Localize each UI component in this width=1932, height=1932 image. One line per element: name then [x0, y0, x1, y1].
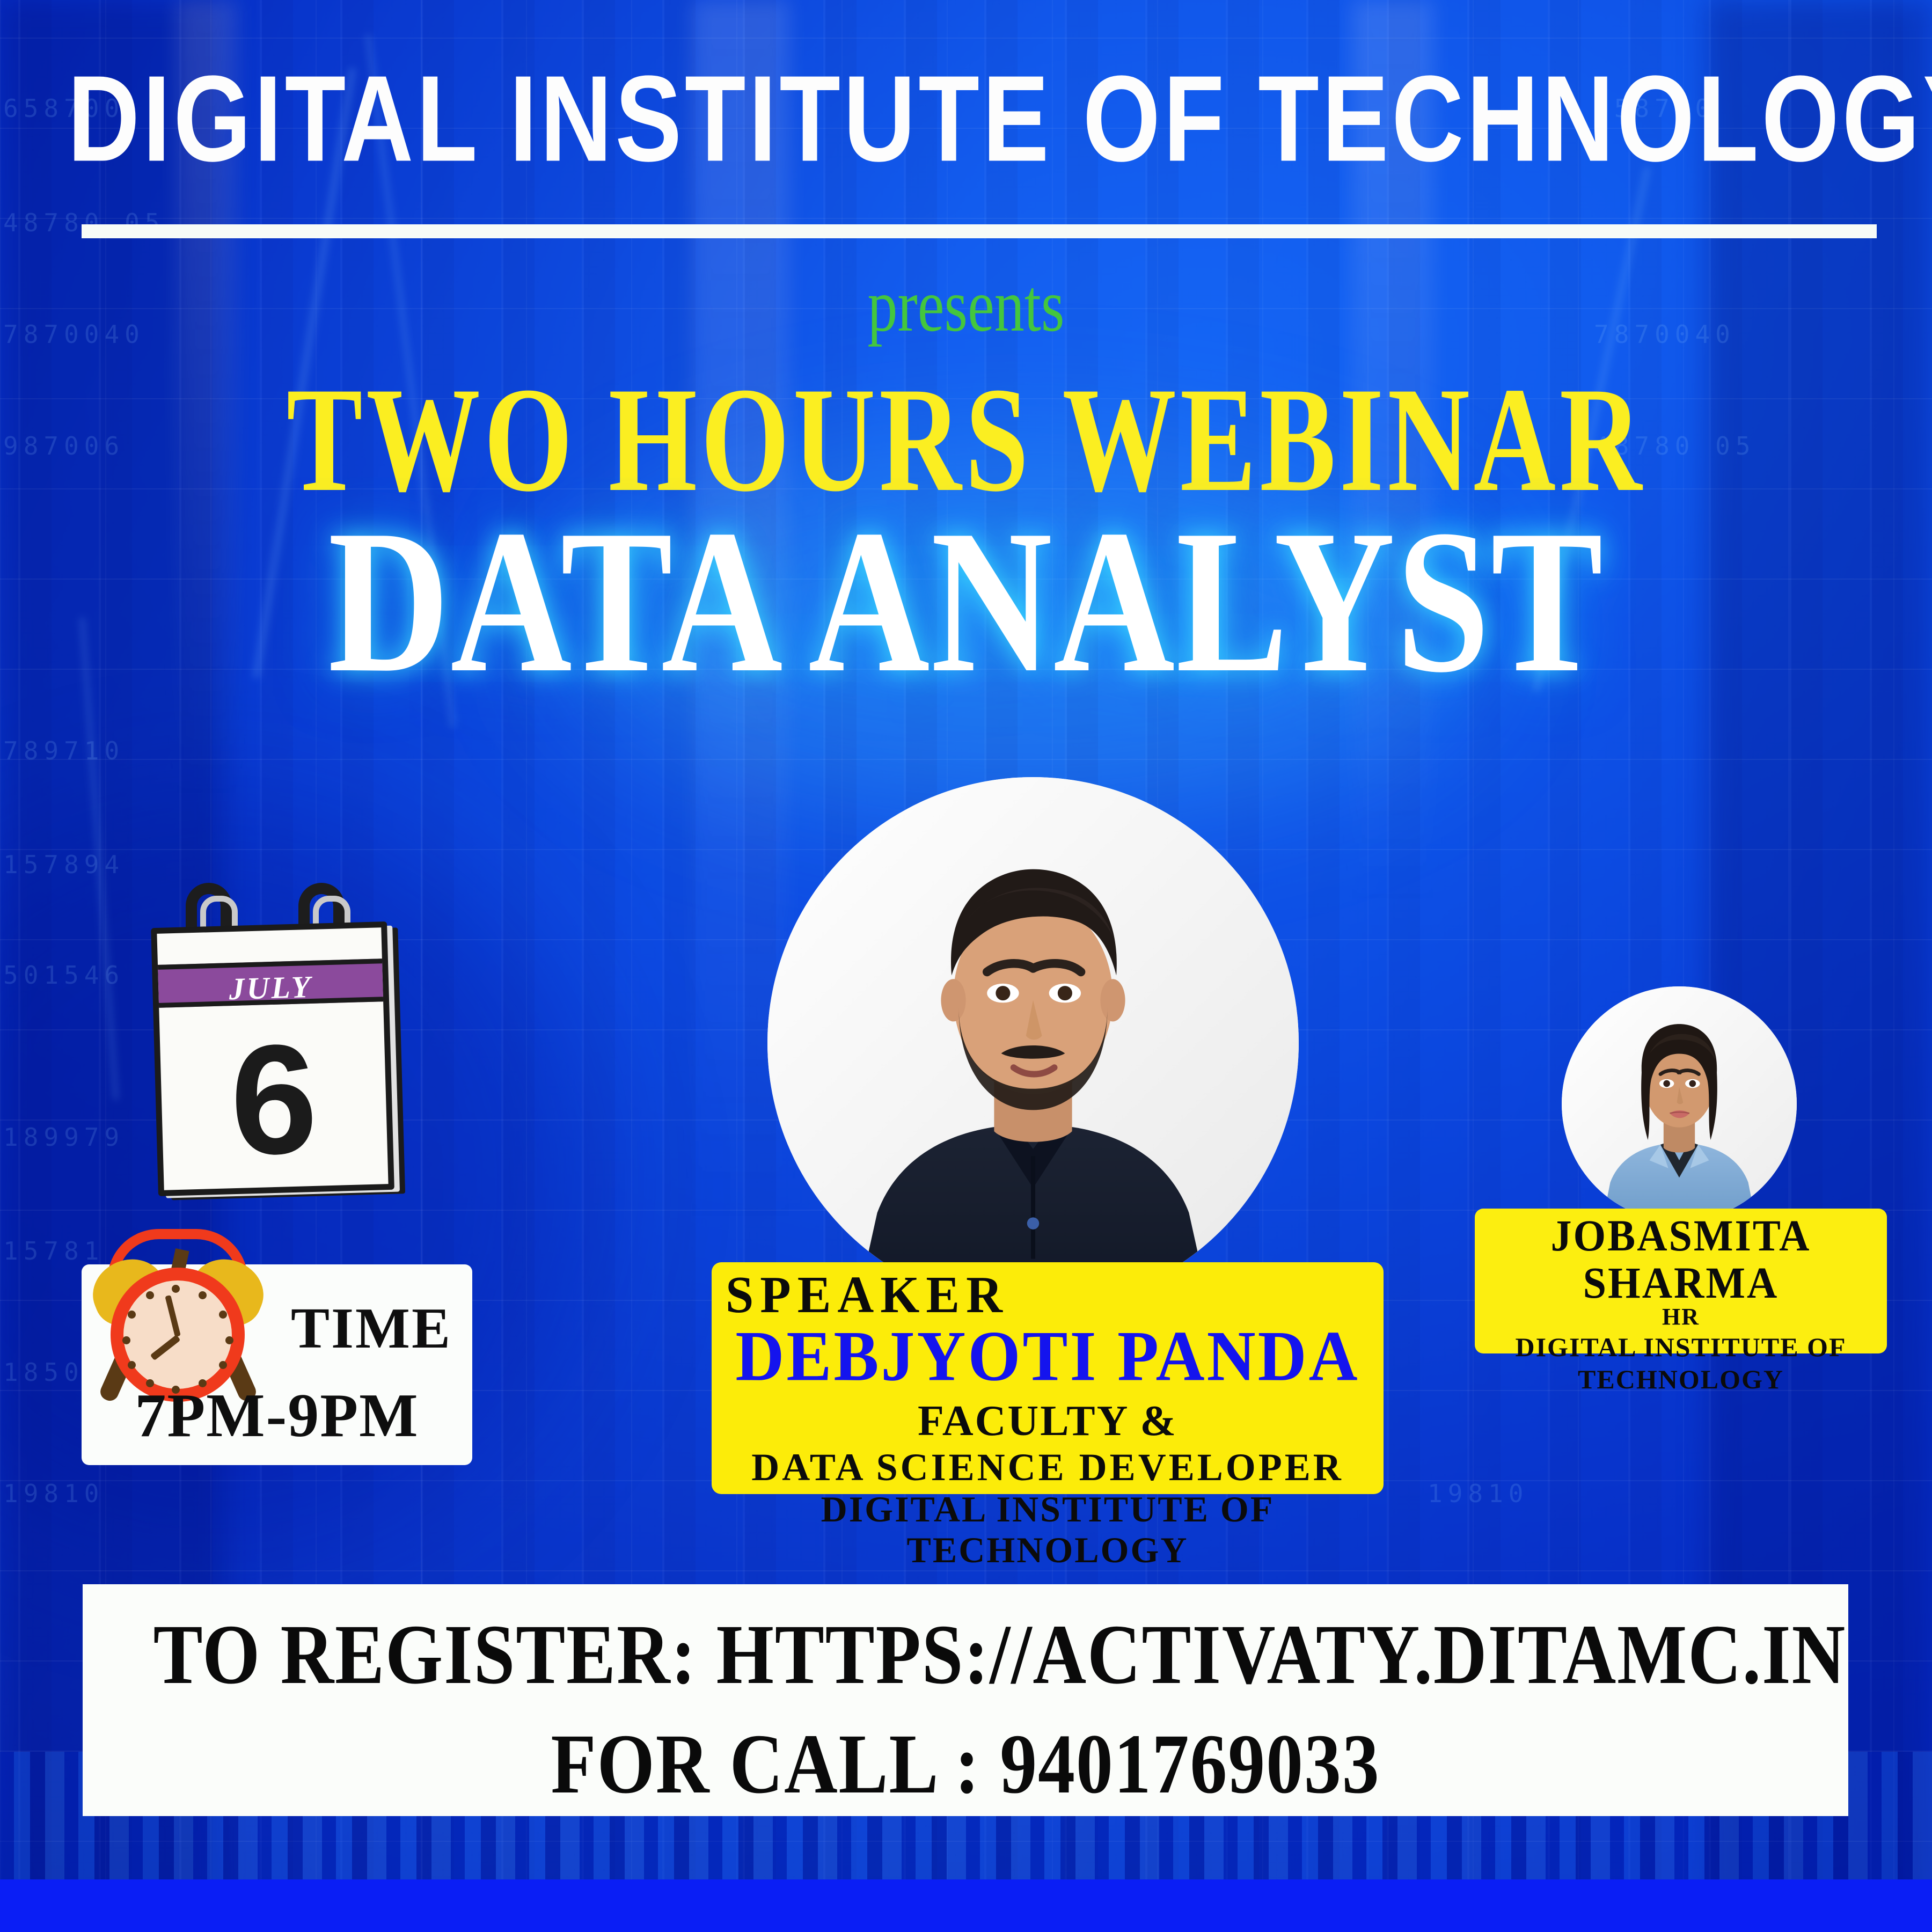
calendar-icon: JULY 6	[155, 883, 434, 1194]
contact-phone-text[interactable]: FOR CALL : 9401769033	[153, 1722, 1778, 1807]
speaker-portrait-photo	[767, 777, 1299, 1308]
registration-link-text[interactable]: TO REGISTER: HTTPS://ACTIVATY.DITAMC.IN	[153, 1612, 1778, 1697]
background-bottom-bar	[0, 1879, 1932, 1932]
calendar-month-label: JULY	[158, 958, 383, 1008]
hr-name: JOBASMITA SHARMA	[1475, 1212, 1887, 1306]
speaker-designation-line-2: DATA SCIENCE DEVELOPER	[726, 1446, 1370, 1489]
background-number: 189979	[3, 1123, 125, 1152]
webinar-poster: 658700 48780 05 7870040 987006 789710 15…	[0, 0, 1932, 1932]
clock-minute-hand	[165, 1295, 181, 1337]
hr-organization: DIGITAL INSTITUTE OF TECHNOLOGY	[1475, 1331, 1887, 1395]
background-number: 19810	[3, 1479, 104, 1508]
speaker-info-card: SPEAKER DEBJYOTI PANDA FACULTY & DATA SC…	[712, 1262, 1384, 1494]
speaker-organization: DIGITAL INSTITUTE OF TECHNOLOGY	[726, 1489, 1370, 1570]
time-value: 7PM-9PM	[93, 1385, 460, 1447]
background-number: 157894	[3, 850, 125, 879]
clock-hour-hand	[150, 1335, 181, 1360]
registration-footer-box: TO REGISTER: HTTPS://ACTIVATY.DITAMC.IN …	[83, 1584, 1848, 1816]
hr-info-card: JOBASMITA SHARMA HR DIGITAL INSTITUTE OF…	[1475, 1209, 1887, 1353]
time-card: TIME 7PM-9PM	[82, 1264, 472, 1465]
calendar-day-number: 6	[159, 1008, 389, 1191]
hr-portrait-photo	[1562, 986, 1797, 1221]
background-number: 15781	[3, 1236, 104, 1265]
presents-label: presents	[193, 268, 1739, 343]
speaker-designation-line-1: FACULTY &	[726, 1397, 1370, 1446]
background-number: 987006	[3, 431, 125, 460]
topic-title: DATA ANALYST	[48, 499, 1884, 705]
time-label: TIME	[286, 1300, 457, 1358]
hr-role: HR	[1475, 1304, 1887, 1331]
speaker-role-label: SPEAKER	[726, 1269, 1370, 1322]
institute-title: DIGITAL INSTITUTE OF TECHNOLOGY	[68, 58, 1864, 180]
speaker-name: DEBJYOTI PANDA	[726, 1318, 1370, 1395]
background-number: 789710	[3, 736, 125, 765]
background-number: 501546	[3, 961, 125, 990]
calendar-body: JULY 6	[151, 921, 394, 1196]
title-divider-rule	[82, 224, 1877, 238]
background-number: 19810	[1428, 1479, 1528, 1508]
background-number: 7870040	[3, 320, 145, 349]
